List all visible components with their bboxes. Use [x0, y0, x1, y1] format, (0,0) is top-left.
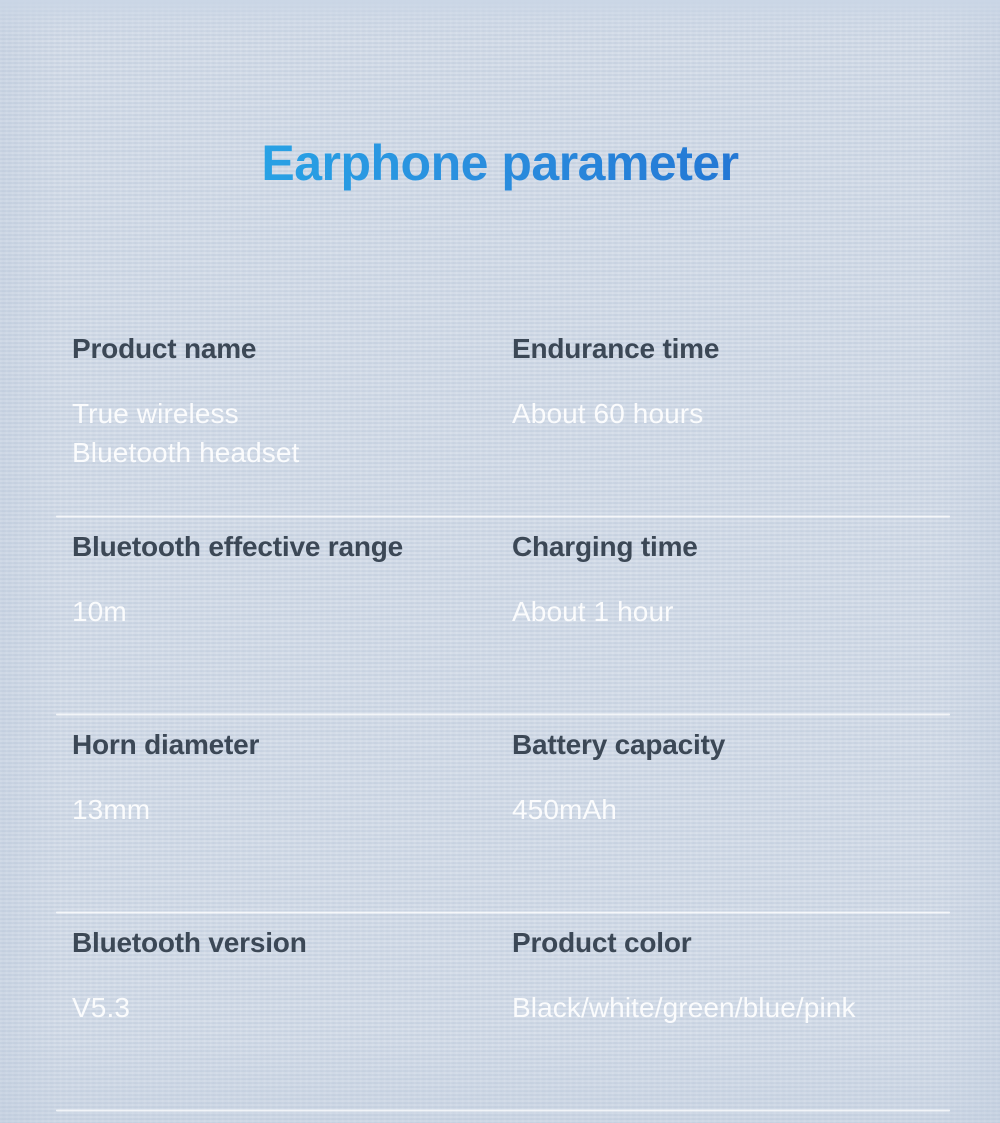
table-row: Bluetooth version V5.3 Product color Bla… [0, 914, 1000, 1112]
spec-label: Charging time [512, 530, 1000, 564]
spec-cell-horn-diameter: Horn diameter 13mm [0, 716, 440, 914]
spec-label: Product name [72, 332, 440, 366]
spec-value: About 60 hours [512, 394, 1000, 433]
spec-value: 13mm [72, 790, 440, 829]
spec-cell-bluetooth-version: Bluetooth version V5.3 [0, 914, 440, 1112]
spec-cell-bluetooth-effective-range: Bluetooth effective range 10m [0, 518, 440, 716]
spec-cell-charging-time: Charging time About 1 hour [440, 518, 1000, 716]
specification-table: Product name True wireless Bluetooth hea… [0, 320, 1000, 1112]
spec-label: Bluetooth effective range [72, 530, 440, 564]
page-content: Earphone parameter Product name True wir… [0, 0, 1000, 1123]
spec-cell-endurance-time: Endurance time About 60 hours [440, 320, 1000, 518]
table-row: Bluetooth effective range 10m Charging t… [0, 518, 1000, 716]
spec-value: About 1 hour [512, 592, 1000, 631]
table-row: Horn diameter 13mm Battery capacity 450m… [0, 716, 1000, 914]
row-divider [56, 1109, 950, 1112]
spec-value: 10m [72, 592, 440, 631]
spec-value: Black/white/green/blue/pink [512, 988, 1000, 1027]
spec-label: Horn diameter [72, 728, 440, 762]
spec-value: V5.3 [72, 988, 440, 1027]
spec-cell-product-color: Product color Black/white/green/blue/pin… [440, 914, 1000, 1112]
spec-label: Bluetooth version [72, 926, 440, 960]
spec-label: Battery capacity [512, 728, 1000, 762]
spec-label: Endurance time [512, 332, 1000, 366]
page-title: Earphone parameter [0, 132, 1000, 194]
spec-value: 450mAh [512, 790, 1000, 829]
spec-cell-product-name: Product name True wireless Bluetooth hea… [0, 320, 440, 518]
table-row: Product name True wireless Bluetooth hea… [0, 320, 1000, 518]
spec-value: True wireless Bluetooth headset [72, 394, 440, 472]
product-spec-page: Earphone parameter Product name True wir… [0, 0, 1000, 1123]
spec-label: Product color [512, 926, 1000, 960]
spec-cell-battery-capacity: Battery capacity 450mAh [440, 716, 1000, 914]
